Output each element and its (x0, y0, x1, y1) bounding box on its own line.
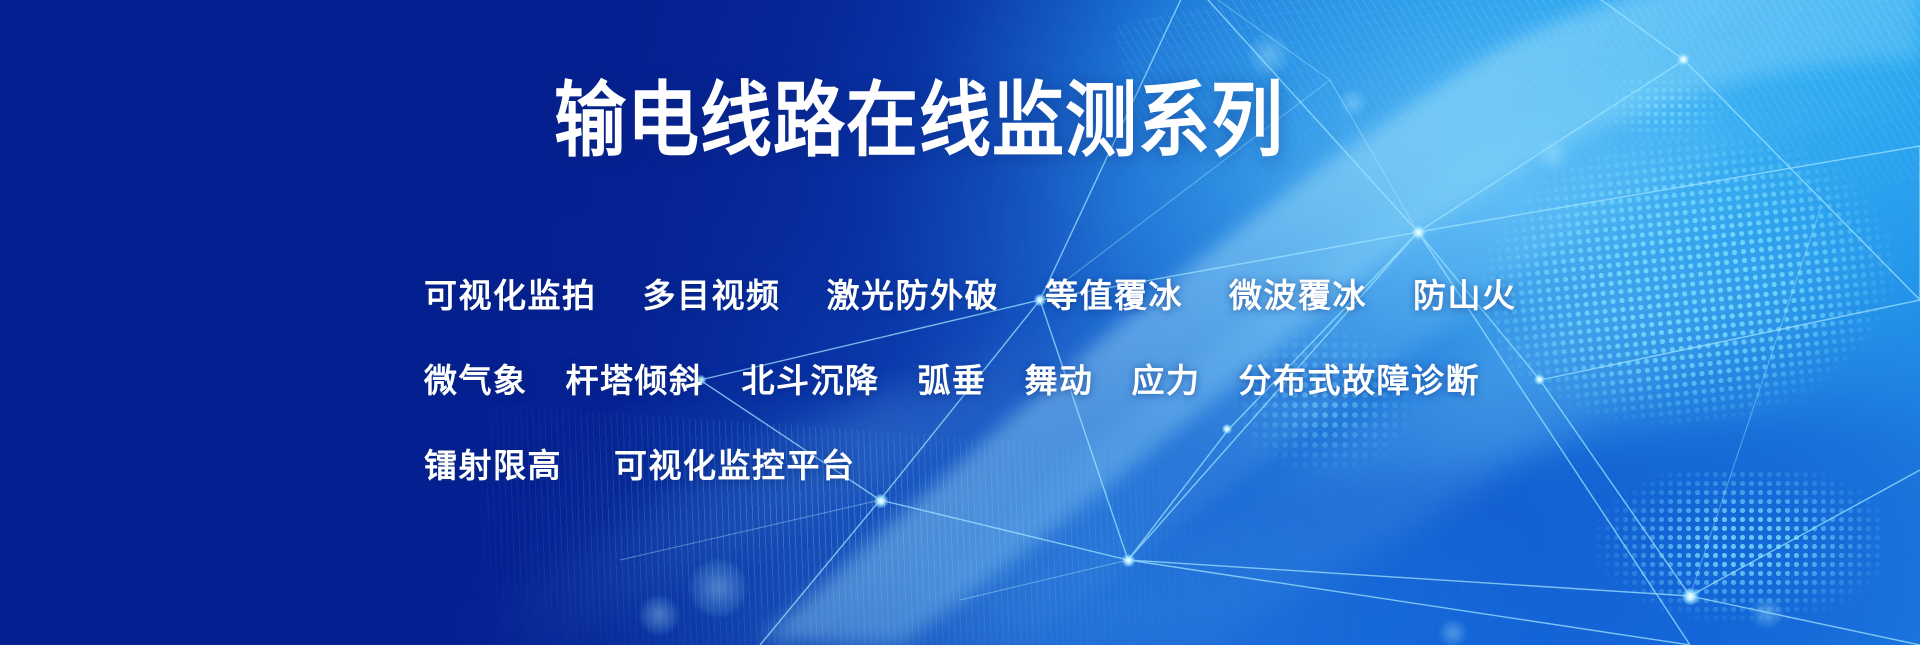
feature-tag[interactable]: 等值覆冰 (1045, 269, 1183, 317)
feature-tag[interactable]: 应力 (1132, 354, 1201, 402)
feature-tag[interactable]: 防山火 (1413, 269, 1517, 317)
tag-row-2: 微气象 杆塔倾斜 北斗沉降 弧垂 舞动 应力 分布式故障诊断 (424, 335, 1604, 420)
feature-tag[interactable]: 多目视频 (643, 269, 781, 317)
feature-tag[interactable]: 微波覆冰 (1229, 269, 1367, 317)
feature-tag[interactable]: 北斗沉降 (742, 354, 880, 402)
feature-tag[interactable]: 镭射限高 (424, 439, 562, 487)
feature-tag[interactable]: 激光防外破 (827, 269, 1000, 317)
feature-tag[interactable]: 弧垂 (918, 354, 987, 402)
feature-tag[interactable]: 分布式故障诊断 (1239, 354, 1481, 402)
hero-banner: 输电线路在线监测系列 可视化监拍 多目视频 激光防外破 等值覆冰 微波覆冰 防山… (0, 0, 1920, 645)
feature-tag-list: 可视化监拍 多目视频 激光防外破 等值覆冰 微波覆冰 防山火 微气象 杆塔倾斜 … (424, 250, 1604, 505)
page-title: 输电线路在线监测系列 (554, 80, 1284, 162)
tag-row-1: 可视化监拍 多目视频 激光防外破 等值覆冰 微波覆冰 防山火 (424, 250, 1604, 335)
feature-tag[interactable]: 可视化监控平台 (614, 439, 856, 487)
feature-tag[interactable]: 微气象 (424, 354, 528, 402)
banner-content: 输电线路在线监测系列 可视化监拍 多目视频 激光防外破 等值覆冰 微波覆冰 防山… (0, 0, 1920, 645)
feature-tag[interactable]: 舞动 (1025, 354, 1094, 402)
feature-tag[interactable]: 杆塔倾斜 (566, 354, 704, 402)
feature-tag[interactable]: 可视化监拍 (424, 269, 597, 317)
tag-row-3: 镭射限高 可视化监控平台 (424, 420, 1604, 505)
